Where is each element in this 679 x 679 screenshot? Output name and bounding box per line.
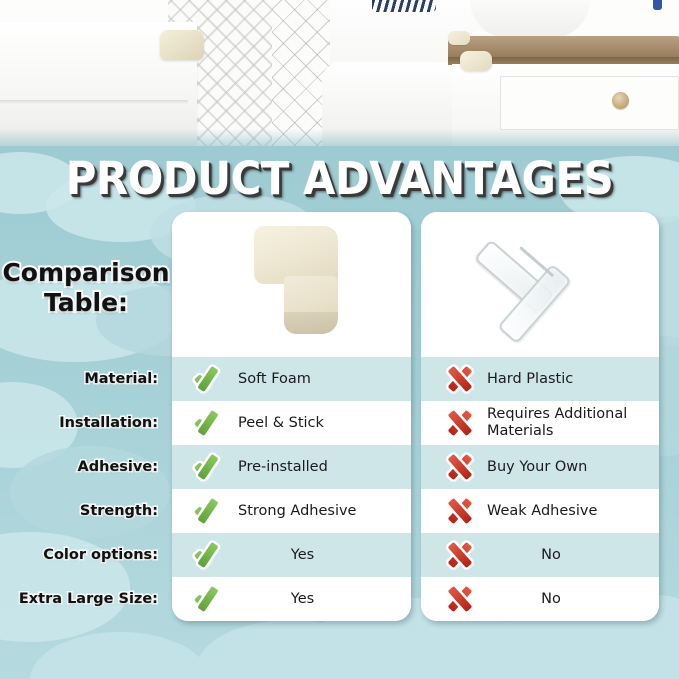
- drawer-knob-icon: [612, 92, 629, 109]
- foam-corner-guard-icon: [246, 226, 338, 334]
- row-label-color-options: Color options:: [0, 533, 170, 577]
- row-label-installation: Installation:: [0, 401, 170, 445]
- cell-value: Soft Foam: [238, 371, 311, 388]
- table-row: No: [421, 577, 659, 621]
- check-icon: [194, 406, 228, 440]
- sofa-cushion: [470, 0, 590, 38]
- table-drawer-face: [500, 76, 679, 130]
- table-row: Yes: [172, 577, 411, 621]
- check-icon: [194, 362, 228, 396]
- table-row: Buy Your Own: [421, 445, 659, 489]
- cell-value: Buy Your Own: [487, 459, 587, 476]
- foam-corner-guard-image: [172, 212, 411, 357]
- cell-value: Hard Plastic: [487, 371, 573, 388]
- row-label-material: Material:: [0, 357, 170, 401]
- lifestyle-photo: [0, 0, 679, 146]
- cell-value: Pre-installed: [238, 459, 328, 476]
- table-row: Soft Foam: [172, 357, 411, 401]
- table-row: Pre-installed: [172, 445, 411, 489]
- row-label-strength: Strength:: [0, 489, 170, 533]
- check-icon: [194, 450, 228, 484]
- white-sofa-arm: [322, 62, 462, 146]
- check-icon: [194, 582, 228, 616]
- table-row: Strong Adhesive: [172, 489, 411, 533]
- row-label-column: Material: Installation: Adhesive: Streng…: [0, 357, 170, 621]
- table-row: Peel & Stick: [172, 401, 411, 445]
- cell-value: Weak Adhesive: [487, 503, 597, 520]
- product-advantages-infographic: PRODUCT ADVANTAGES Comparison Table: Mat…: [0, 0, 679, 679]
- striped-pillow: [372, 0, 436, 12]
- x-icon: [443, 494, 477, 528]
- check-icon: [194, 494, 228, 528]
- blue-accent-speck: [653, 0, 662, 10]
- plastic-corner-guard-icon: [484, 217, 596, 346]
- corner-guard-on-table-front-icon: [460, 51, 492, 71]
- check-icon: [194, 538, 228, 572]
- other-product-rows: Hard Plastic Requires Additional Materia…: [421, 357, 659, 621]
- corner-guard-on-dresser-icon: [160, 30, 204, 60]
- row-label-extra-large-size: Extra Large Size:: [0, 577, 170, 621]
- our-product-rows: Soft Foam Peel & Stick Pre-installed Str…: [172, 357, 411, 621]
- x-icon: [443, 406, 477, 440]
- table-row: Requires Additional Materials: [421, 401, 659, 445]
- foam-guard-shadow: [284, 312, 338, 334]
- table-row: Weak Adhesive: [421, 489, 659, 533]
- cell-value: Peel & Stick: [238, 415, 324, 432]
- corner-guard-on-table-edge-icon: [448, 31, 470, 45]
- cell-value: Yes: [238, 591, 411, 608]
- comparison-card-our-product: Soft Foam Peel & Stick Pre-installed Str…: [172, 212, 411, 621]
- comparison-card-other-product: Hard Plastic Requires Additional Materia…: [421, 212, 659, 621]
- table-row: Yes: [172, 533, 411, 577]
- row-label-adhesive: Adhesive:: [0, 445, 170, 489]
- table-row: Hard Plastic: [421, 357, 659, 401]
- x-icon: [443, 450, 477, 484]
- page-title: PRODUCT ADVANTAGES: [24, 152, 655, 205]
- comparison-table-label-line1: Comparison: [2, 258, 169, 287]
- cell-value: No: [487, 591, 659, 608]
- cell-value: No: [487, 547, 659, 564]
- x-icon: [443, 582, 477, 616]
- cell-value: Yes: [238, 547, 411, 564]
- x-icon: [443, 538, 477, 572]
- comparison-table-label: Comparison Table:: [2, 258, 170, 318]
- comparison-table-label-line2: Table:: [44, 288, 128, 317]
- cell-value: Requires Additional Materials: [487, 406, 659, 440]
- dresser-drawer-seam: [0, 100, 188, 104]
- plastic-corner-guard-image: [421, 212, 659, 357]
- cell-value: Strong Adhesive: [238, 503, 356, 520]
- x-icon: [443, 362, 477, 396]
- table-row: No: [421, 533, 659, 577]
